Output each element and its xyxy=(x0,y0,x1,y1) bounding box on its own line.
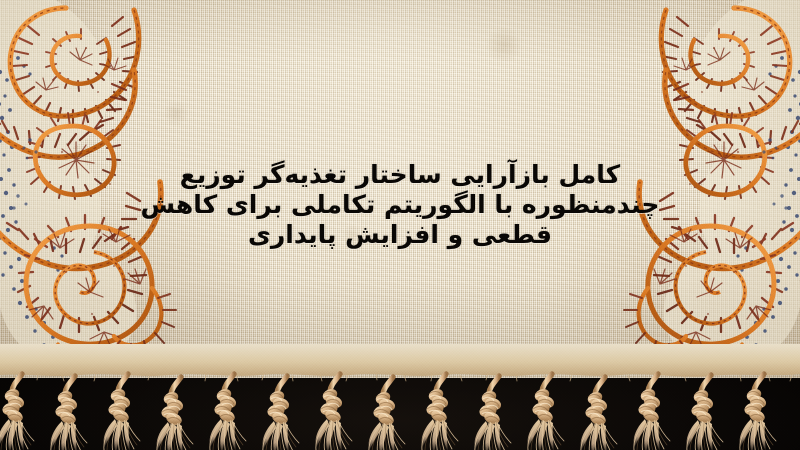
title-card-image: کامل بازآرایی ساختار تغذیه‌گر توزیع چندم… xyxy=(0,0,800,450)
woven-linen-panel xyxy=(0,0,800,378)
